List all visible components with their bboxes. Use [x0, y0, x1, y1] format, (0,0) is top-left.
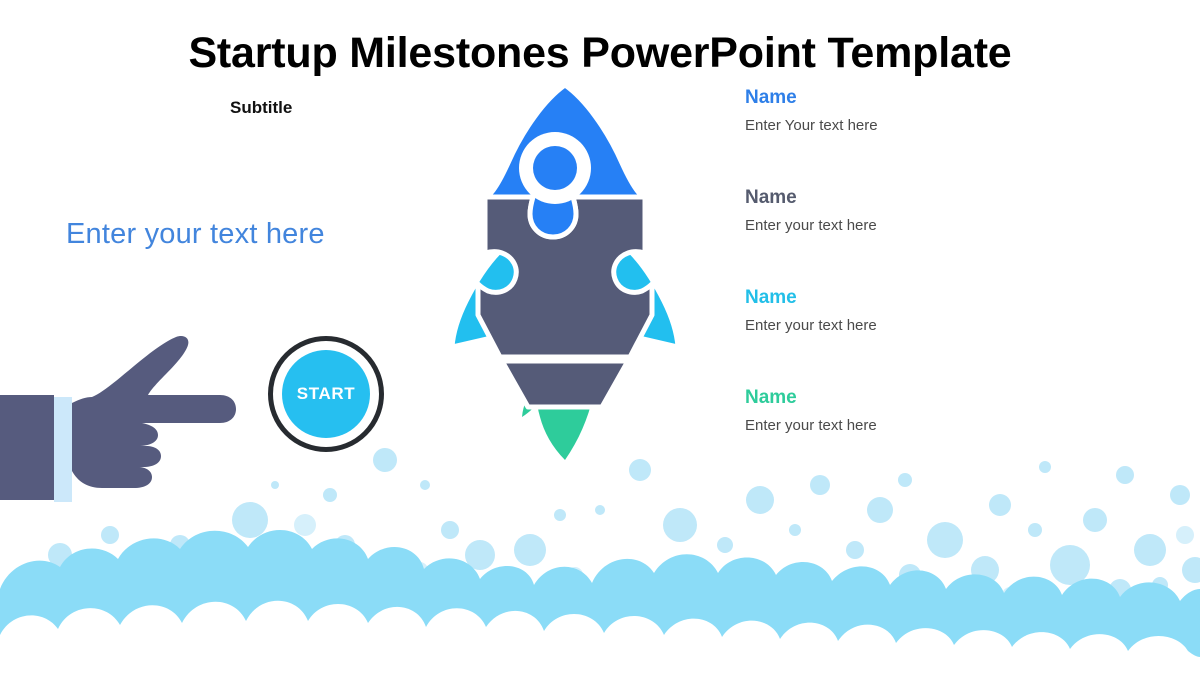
milestone-name: Name	[745, 88, 1075, 107]
milestone-name: Name	[745, 388, 1075, 407]
milestone-description: Enter your text here	[745, 218, 1075, 233]
start-button-label: START	[297, 384, 355, 404]
milestone-item[interactable]: NameEnter your text here	[745, 188, 1075, 233]
subtitle: Subtitle	[230, 98, 292, 118]
milestone-item[interactable]: NameEnter Your text here	[745, 88, 1075, 133]
milestone-description: Enter your text here	[745, 318, 1075, 333]
milestone-name: Name	[745, 288, 1075, 307]
milestone-item[interactable]: NameEnter your text here	[745, 288, 1075, 333]
milestone-name: Name	[745, 188, 1075, 207]
rocket-illustration	[440, 85, 690, 460]
cloud-decoration	[0, 515, 1200, 675]
rocket-window-icon	[519, 132, 591, 204]
left-placeholder-text: Enter your text here	[66, 218, 325, 251]
page-title: Startup Milestones PowerPoint Template	[0, 29, 1200, 78]
milestone-description: Enter Your text here	[745, 118, 1075, 133]
slide-canvas: Startup Milestones PowerPoint Template S…	[0, 0, 1200, 675]
